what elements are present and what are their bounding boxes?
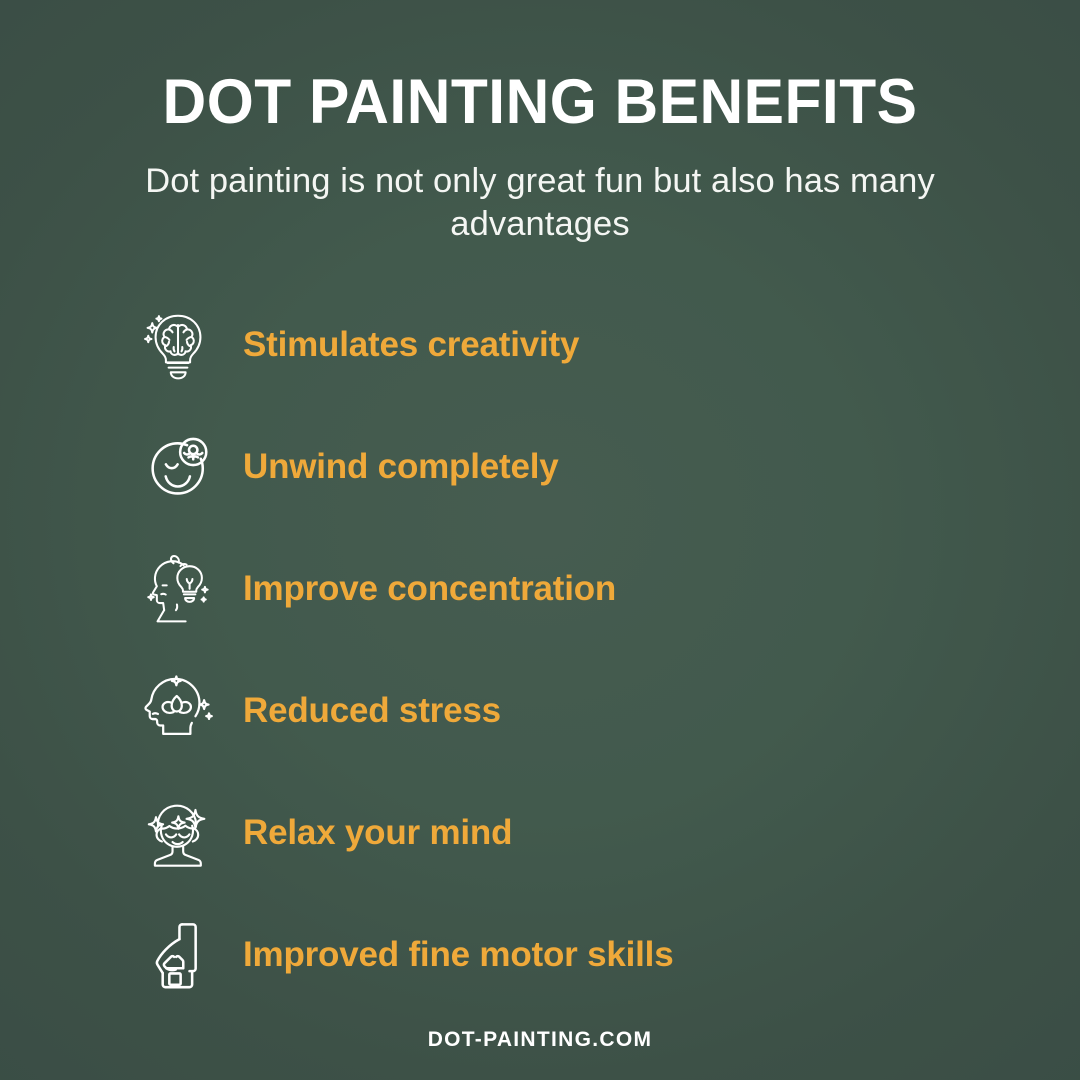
poster-canvas: DOT PAINTING BENEFITS Dot painting is no…: [0, 0, 1080, 1080]
smiling-face-flower-icon: [138, 427, 218, 507]
list-item: Unwind completely: [138, 406, 1080, 528]
benefit-label: Relax your mind: [243, 813, 512, 853]
head-profile-lightbulb-icon: [138, 549, 218, 629]
benefits-list: Stimulates creativity: [0, 284, 1080, 1016]
list-item: Improve concentration: [138, 528, 1080, 650]
list-item: Relax your mind: [138, 772, 1080, 894]
list-item: Improved fine motor skills: [138, 894, 1080, 1016]
page-title: DOT PAINTING BENEFITS: [22, 70, 1059, 136]
benefit-label: Stimulates creativity: [243, 325, 579, 365]
relaxed-face-stars-icon: [138, 793, 218, 873]
poster-footer: DOT-PAINTING.COM: [0, 1028, 1080, 1052]
benefit-label: Reduced stress: [243, 691, 501, 731]
website-url[interactable]: DOT-PAINTING.COM: [428, 1028, 653, 1051]
page-subtitle: Dot painting is not only great fun but a…: [145, 160, 935, 247]
list-item: Reduced stress: [138, 650, 1080, 772]
head-profile-lotus-icon: [138, 671, 218, 751]
hand-holding-bead-icon: [138, 915, 218, 995]
benefit-label: Improve concentration: [243, 569, 616, 609]
benefit-label: Unwind completely: [243, 447, 559, 487]
lightbulb-brain-sparkle-icon: [138, 305, 218, 385]
benefit-label: Improved fine motor skills: [243, 935, 673, 975]
list-item: Stimulates creativity: [138, 284, 1080, 406]
poster-header: DOT PAINTING BENEFITS Dot painting is no…: [0, 0, 1080, 246]
